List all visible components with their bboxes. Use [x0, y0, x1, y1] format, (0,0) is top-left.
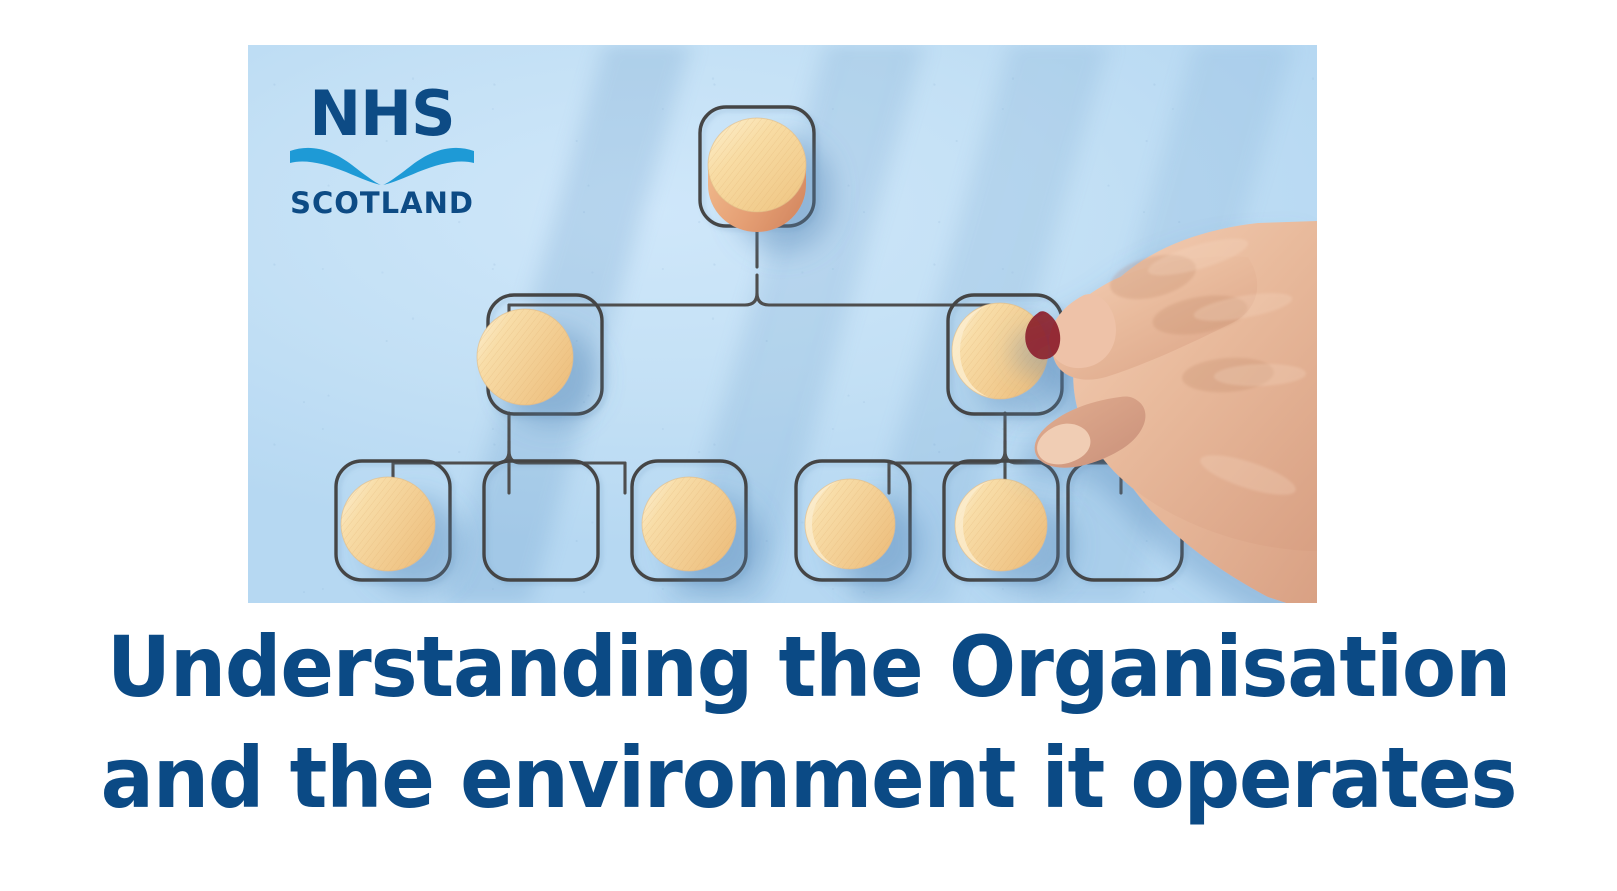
page-title: Understanding the Organisation and the e… [0, 612, 1617, 834]
logo-scotland-text: SCOTLAND [290, 186, 474, 220]
page-title-line-2: and the environment it operates [49, 723, 1569, 834]
token-leaf-4 [805, 479, 895, 569]
logo-nhs-text: NHS [309, 77, 454, 150]
token-root [708, 118, 806, 232]
token-left-branch [477, 309, 573, 405]
logo-swoosh-left [290, 148, 381, 185]
token-leaf-3 [642, 477, 736, 571]
token-leaf-5 [955, 479, 1047, 571]
token-leaf-1 [341, 477, 435, 571]
nhs-scotland-logo: NHS SCOTLAND [282, 73, 482, 223]
hero-image: NHS SCOTLAND [248, 45, 1317, 603]
chart-node-leaf-2 [484, 461, 598, 580]
logo-swoosh-right [383, 148, 474, 185]
page-title-line-1: Understanding the Organisation [49, 612, 1569, 723]
